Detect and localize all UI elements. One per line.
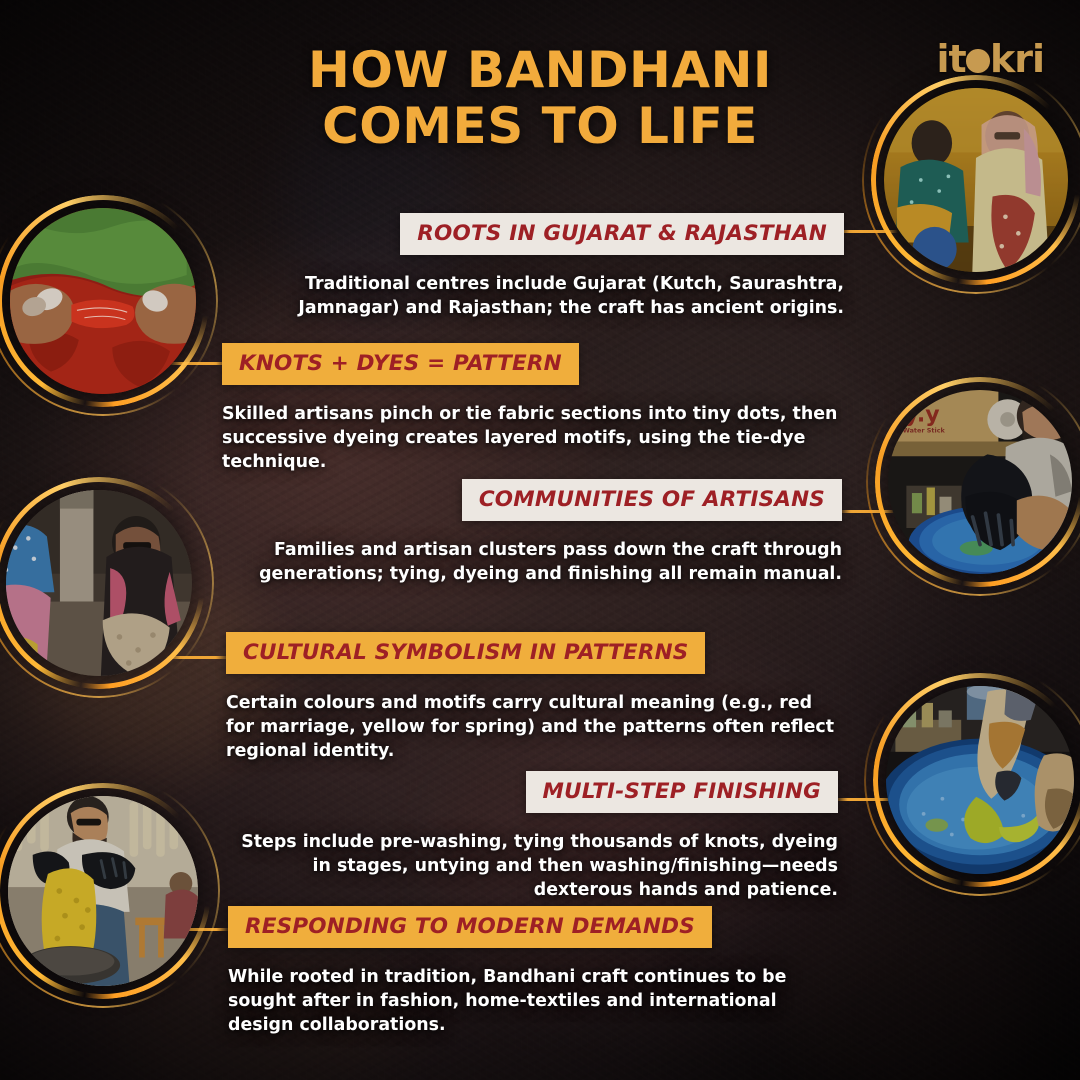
infographic-poster: itkri HOW BANDHANI COMES TO LIFE: [0, 0, 1080, 1080]
photo-fabric-dipped-blue-dye: [886, 686, 1074, 874]
section-heading-roots: ROOTS IN GUJARAT & RAJASTHAN: [400, 213, 844, 255]
section-knots-dyes: KNOTS + DYES = PATTERN Skilled artisans …: [222, 343, 842, 474]
logo-dot-icon: [966, 49, 990, 73]
section-heading-communities: COMMUNITIES OF ARTISANS: [462, 479, 842, 521]
page-title: HOW BANDHANI COMES TO LIFE: [0, 42, 1080, 154]
title-line-1: HOW BANDHANI: [308, 41, 772, 99]
section-body-communities: Families and artisan clusters pass down …: [238, 538, 842, 586]
section-multi-step-finishing: MULTI-STEP FINISHING Steps include pre-w…: [236, 771, 838, 902]
photo-disc: [6, 490, 192, 676]
section-heading-cultural-symbolism: CULTURAL SYMBOLISM IN PATTERNS: [226, 632, 705, 674]
section-communities: COMMUNITIES OF ARTISANS Families and art…: [238, 479, 842, 586]
photo-disc: [886, 686, 1074, 874]
section-heading-modern-demands: RESPONDING TO MODERN DEMANDS: [228, 906, 712, 948]
section-cultural-symbolism: CULTURAL SYMBOLISM IN PATTERNS Certain c…: [226, 632, 846, 763]
section-heading-knots-dyes: KNOTS + DYES = PATTERN: [222, 343, 579, 385]
section-body-knots-dyes: Skilled artisans pinch or tie fabric sec…: [222, 402, 842, 474]
photo-illustration: [10, 208, 196, 394]
title-line-2: COMES TO LIFE: [0, 98, 1080, 154]
photo-illustration: [886, 686, 1074, 874]
photo-disc: y.y Water Stick: [888, 390, 1072, 574]
photo-illustration: [8, 796, 198, 986]
section-body-modern-demands: While rooted in tradition, Bandhani craf…: [228, 965, 848, 1037]
photo-disc: [10, 208, 196, 394]
logo-text-part2: kri: [990, 37, 1044, 81]
section-body-roots: Traditional centres include Gujarat (Kut…: [240, 272, 844, 320]
photo-hands-tying-red-fabric: [10, 208, 196, 394]
photo-dyer-blue-vat: y.y Water Stick: [888, 390, 1072, 574]
section-body-multi-step-finishing: Steps include pre-washing, tying thousan…: [236, 830, 838, 902]
photo-dyer-lifting-yellow-cloth: [8, 796, 198, 986]
photo-illustration: [6, 490, 192, 676]
section-body-cultural-symbolism: Certain colours and motifs carry cultura…: [226, 691, 846, 763]
photo-disc: [8, 796, 198, 986]
section-modern-demands: RESPONDING TO MODERN DEMANDS While roote…: [228, 906, 848, 1037]
photo-illustration: y.y Water Stick: [888, 390, 1072, 574]
photo-artisan-women-tying: [6, 490, 192, 676]
section-roots: ROOTS IN GUJARAT & RAJASTHAN Traditional…: [240, 213, 844, 320]
section-heading-multi-step-finishing: MULTI-STEP FINISHING: [526, 771, 838, 813]
itokri-logo[interactable]: itkri: [936, 40, 1044, 78]
logo-text-part1: it: [936, 37, 965, 81]
